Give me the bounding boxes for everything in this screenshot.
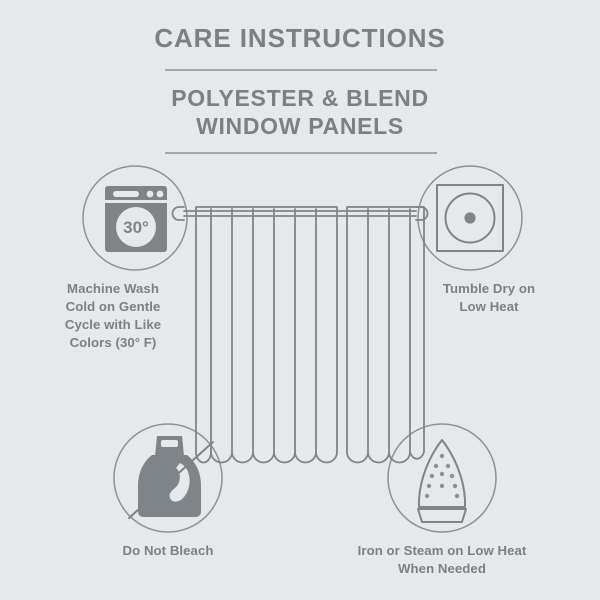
- caption-line: When Needed: [398, 561, 486, 576]
- washing-machine-icon: 30°: [105, 186, 167, 252]
- caption-line: Colors (30° F): [70, 335, 157, 350]
- caption-line: Iron or Steam on Low Heat: [358, 543, 527, 558]
- subtitle-line-2: WINDOW PANELS: [196, 113, 404, 139]
- caption-line: Low Heat: [459, 299, 519, 314]
- caption-do-not-bleach: Do Not Bleach: [123, 543, 214, 558]
- care-instructions-card: CARE INSTRUCTIONS POLYESTER & BLEND WIND…: [0, 0, 600, 600]
- caption-line: Cold on Gentle: [66, 299, 161, 314]
- caption-line: Tumble Dry on: [443, 281, 535, 296]
- subtitle-line-1: POLYESTER & BLEND: [171, 85, 429, 111]
- washing-machine-temperature: 30°: [123, 218, 149, 237]
- caption-line: Do Not Bleach: [123, 543, 214, 558]
- care-instructions-graphic: CARE INSTRUCTIONS POLYESTER & BLEND WIND…: [0, 0, 600, 600]
- caption-line: Cycle with Like: [65, 317, 161, 332]
- caption-line: Machine Wash: [67, 281, 159, 296]
- page-title: CARE INSTRUCTIONS: [154, 23, 445, 53]
